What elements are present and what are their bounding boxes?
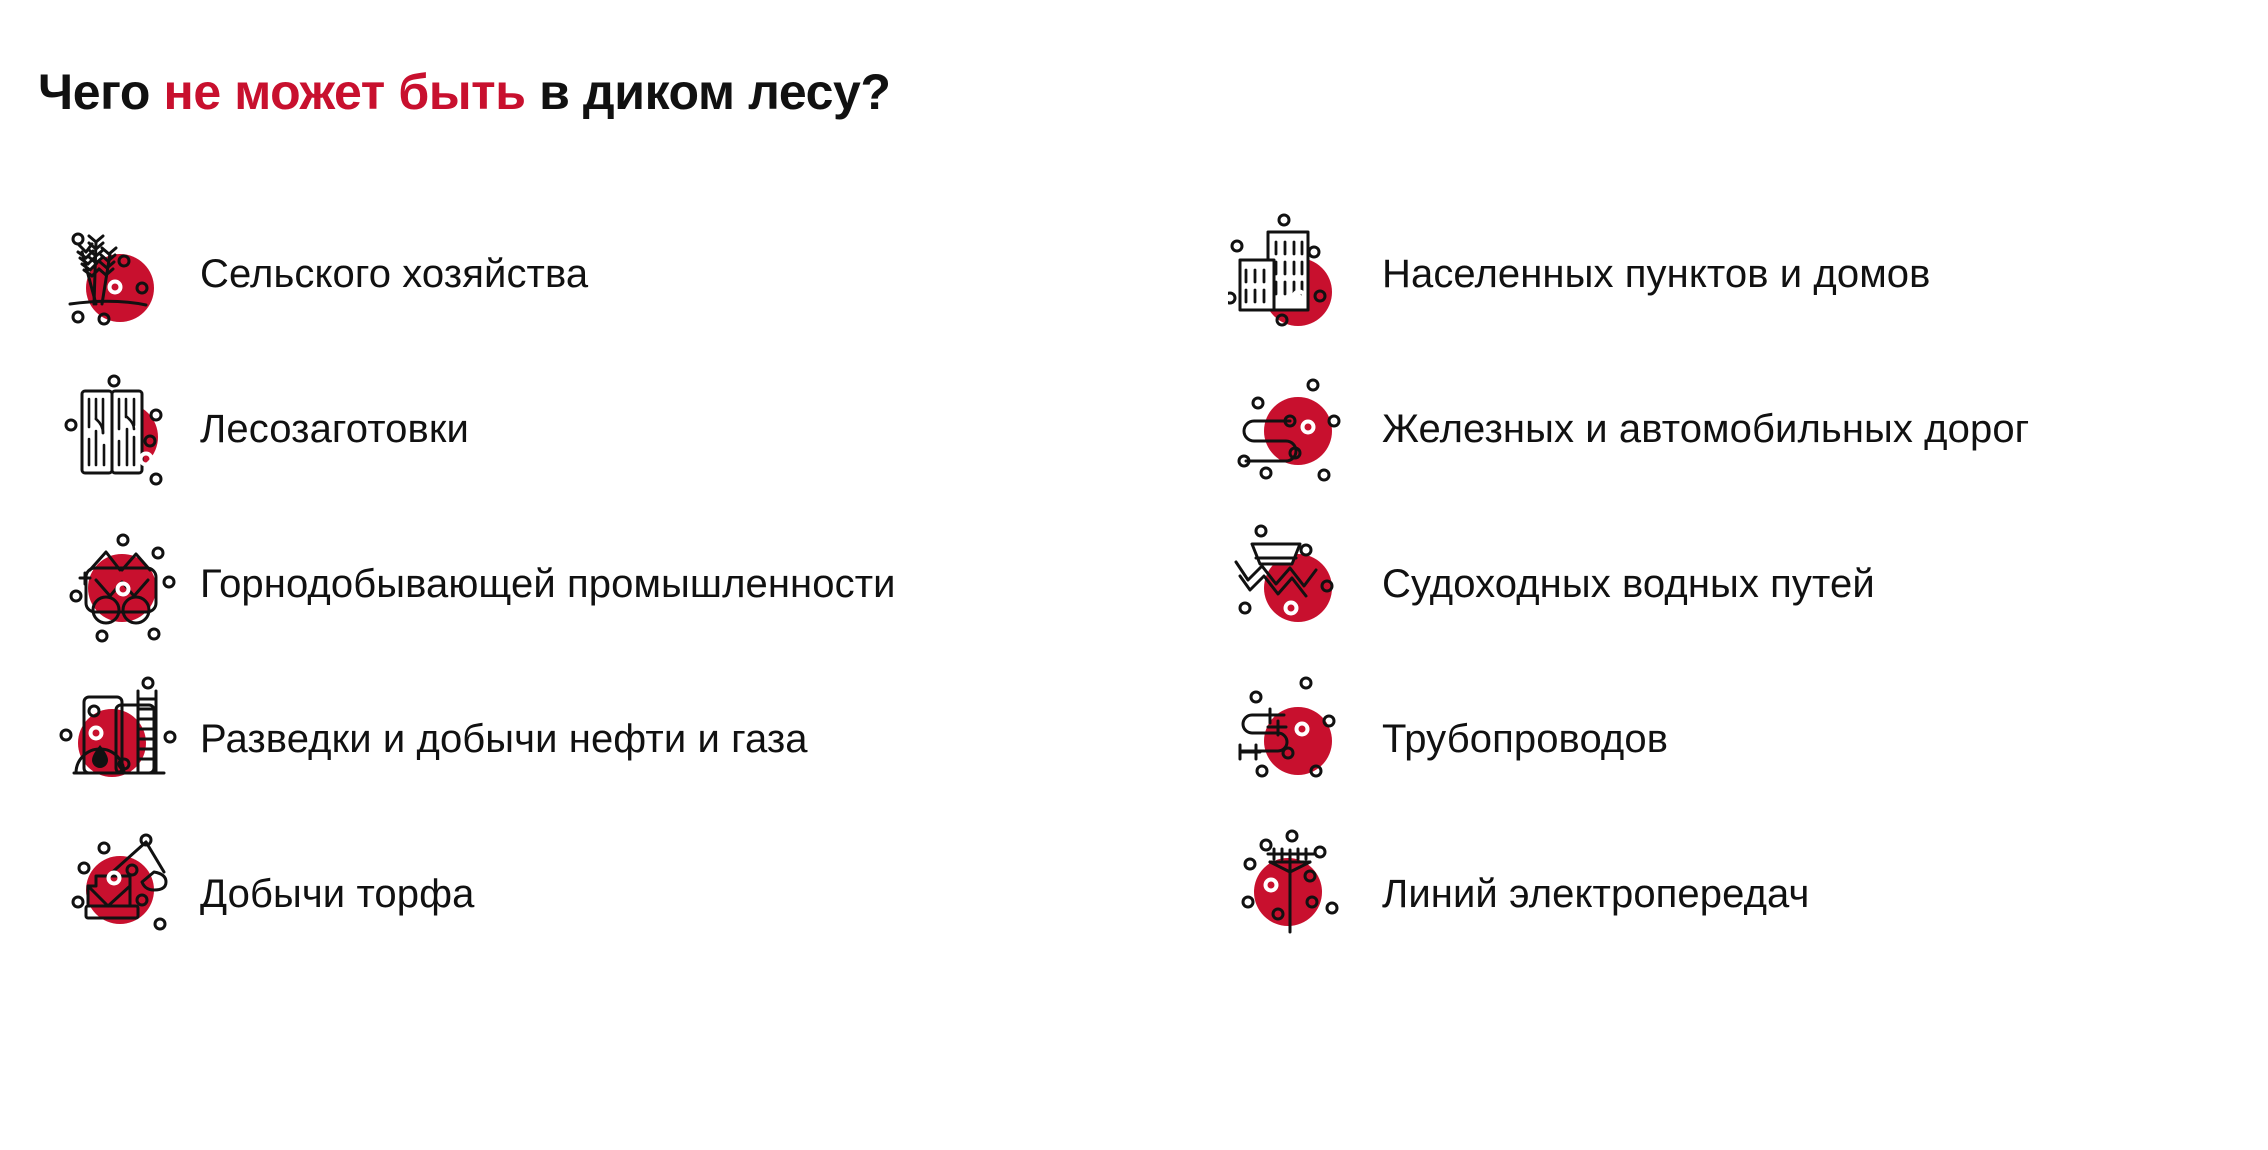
list-item[interactable]: Добычи торфа	[46, 816, 1210, 971]
list-item[interactable]: Населенных пунктов и домов	[1228, 196, 2268, 351]
list-item[interactable]: Горнодобывающей промышленности	[46, 506, 1210, 661]
left-column: Сельского хозяйства	[0, 196, 1210, 971]
road-icon	[1228, 363, 1360, 495]
mining-cart-icon	[46, 518, 178, 650]
list-item[interactable]: Сельского хозяйства	[46, 196, 1210, 351]
excavator-icon	[46, 828, 178, 960]
items-columns: Сельского хозяйства	[0, 196, 2268, 971]
title-part-two: в диком лесу?	[526, 64, 891, 120]
wheat-icon	[46, 208, 178, 340]
list-item-label: Населенных пунктов и домов	[1382, 251, 1931, 297]
logs-icon	[46, 363, 178, 495]
list-item-label: Разведки и добычи нефти и газа	[200, 716, 808, 762]
right-column: Населенных пунктов и домов	[1210, 196, 2268, 971]
list-item-label: Добычи торфа	[200, 871, 474, 917]
list-item[interactable]: Судоходных водных путей	[1228, 506, 2268, 661]
list-item-label: Сельского хозяйства	[200, 251, 588, 297]
power-line-icon	[1228, 828, 1360, 960]
buildings-icon	[1228, 208, 1360, 340]
list-item-label: Железных и автомобильных дорог	[1382, 406, 2029, 452]
page-title: Чего не может быть в диком лесу?	[38, 62, 891, 122]
slide-root: Чего не может быть в диком лесу?	[0, 0, 2268, 1150]
list-item[interactable]: Трубопроводов	[1228, 661, 2268, 816]
title-part-one: Чего	[38, 64, 164, 120]
list-item-label: Линий электропередач	[1382, 871, 1809, 917]
list-item[interactable]: Лесозаготовки	[46, 351, 1210, 506]
list-item-label: Лесозаготовки	[200, 406, 469, 452]
list-item[interactable]: Линий электропередач	[1228, 816, 2268, 971]
title-accent: не может быть	[164, 64, 526, 120]
list-item-label: Горнодобывающей промышленности	[200, 561, 896, 607]
list-item[interactable]: Железных и автомобильных дорог	[1228, 351, 2268, 506]
list-item[interactable]: Разведки и добычи нефти и газа	[46, 661, 1210, 816]
boat-waves-icon	[1228, 518, 1360, 650]
list-item-label: Трубопроводов	[1382, 716, 1668, 762]
list-item-label: Судоходных водных путей	[1382, 561, 1875, 607]
pipeline-icon	[1228, 673, 1360, 805]
oil-tank-icon	[46, 673, 178, 805]
